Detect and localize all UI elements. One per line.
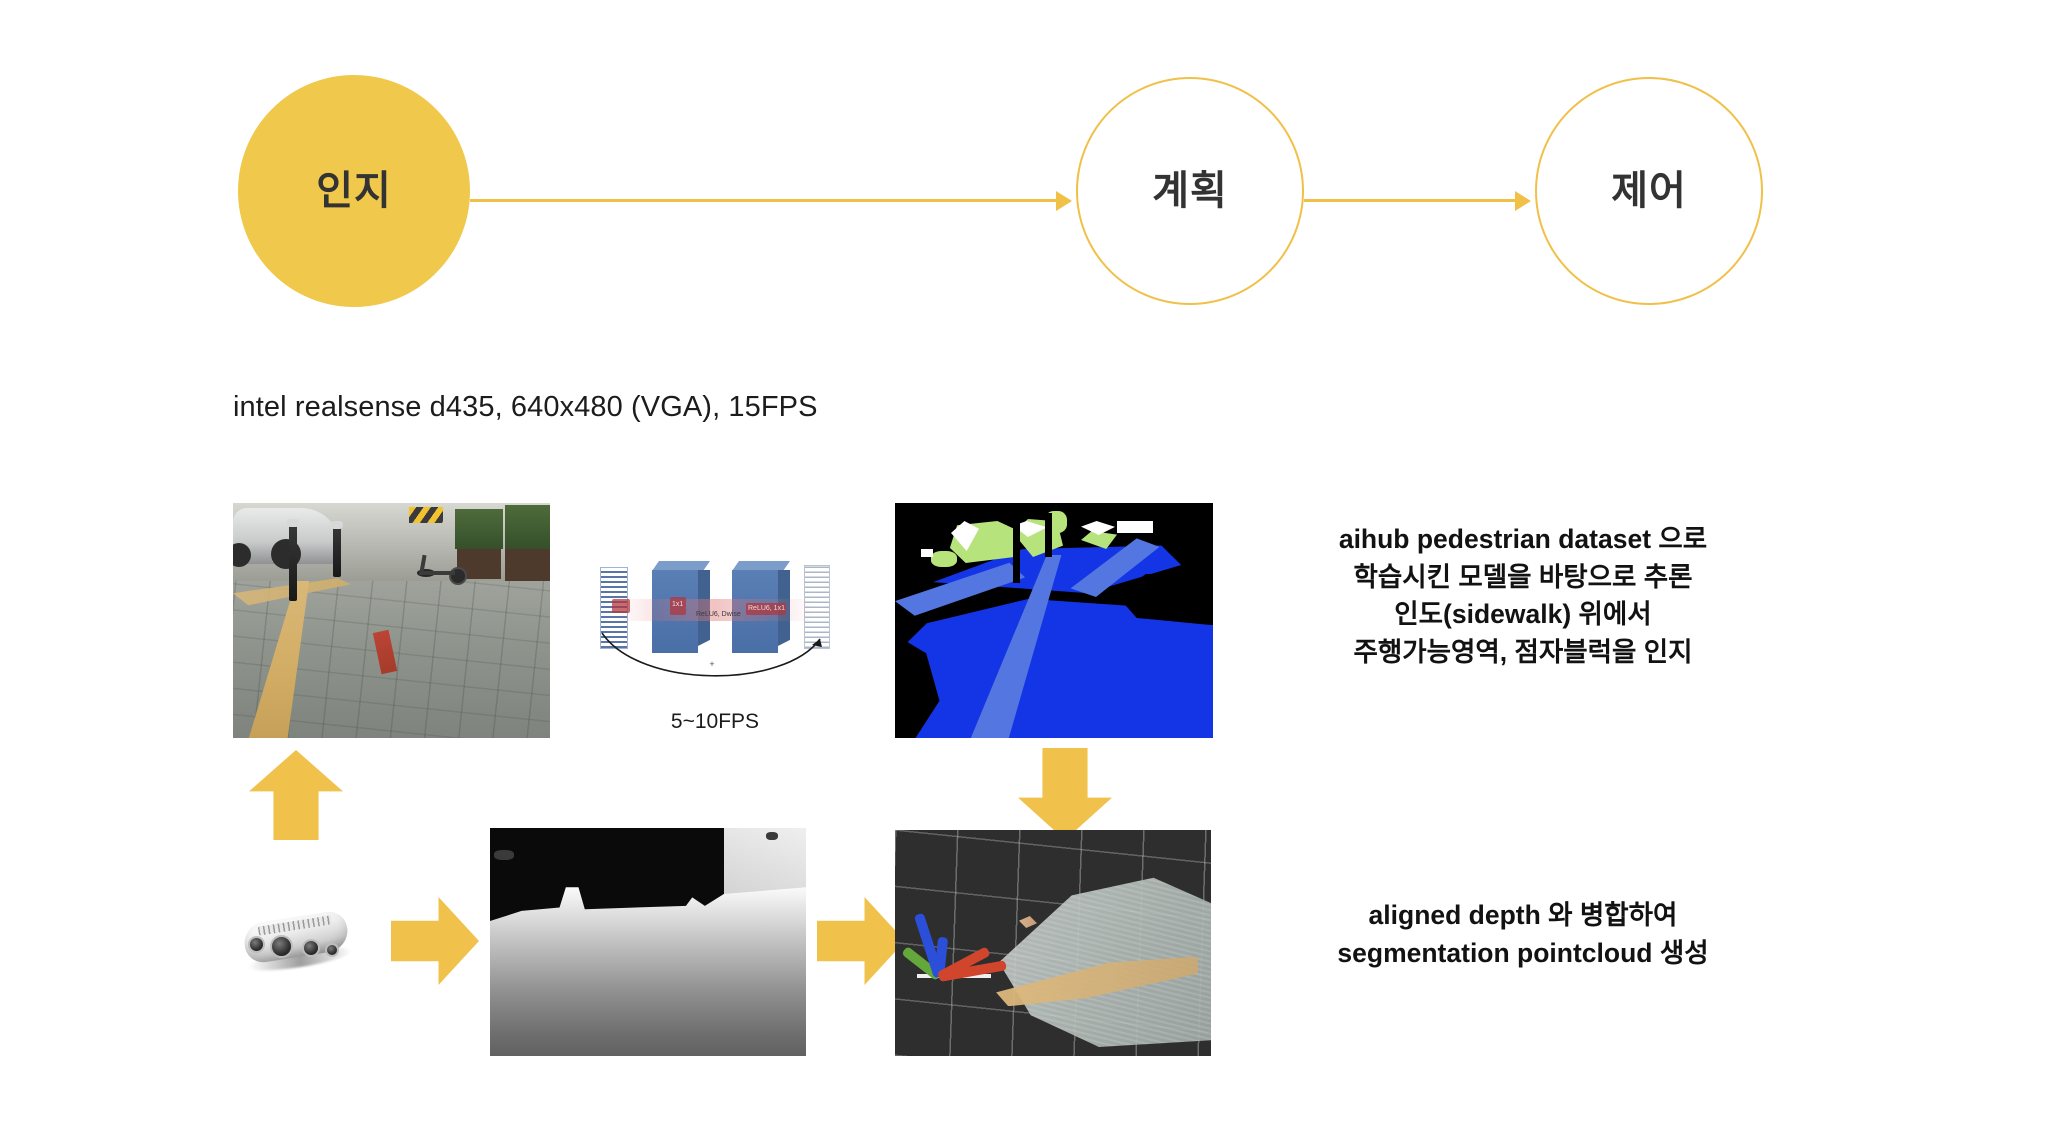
perception-annotation-line-1: aihub pedestrian dataset 으로 — [1288, 521, 1758, 559]
camera-lens — [325, 943, 339, 957]
pipeline-arrow-1-line — [470, 199, 1064, 202]
seg-pole-class — [1013, 517, 1020, 583]
seg-vegetation-class — [931, 551, 957, 567]
perception-annotation-line-4: 주행가능영역, 점자블럭을 인지 — [1288, 634, 1758, 672]
segmentation-output-image — [895, 503, 1213, 738]
seg-pole-class — [1045, 513, 1052, 557]
pointcloud-annotation-text: aligned depth 와 병합하여 segmentation pointc… — [1288, 897, 1758, 972]
rgb-sidewalk-photo — [233, 503, 550, 738]
depth-ground-gradient — [490, 887, 806, 1056]
rgb-hedge — [505, 505, 550, 549]
camera-lens — [302, 939, 320, 957]
arrow-down-segmentation-icon — [1018, 748, 1112, 840]
cnn-architecture-diagram: 1x1 ReLU6, Dwise ReLU6, 1x1 + — [600, 555, 830, 675]
pipeline-node-perception-label: 인지 — [316, 171, 392, 211]
pipeline-node-control[interactable]: 제어 — [1535, 77, 1763, 305]
cnn-layer-label-2: ReLU6, Dwise — [696, 611, 741, 618]
seg-unknown-class — [1117, 521, 1153, 533]
pointcloud-annotation-line-1: aligned depth 와 병합하여 — [1288, 897, 1758, 935]
segmentation-pointcloud-viewer — [895, 830, 1211, 1056]
pipeline-node-control-label: 제어 — [1611, 171, 1687, 211]
arrow-up-rgb-icon — [249, 750, 343, 840]
slide-canvas: 인지 계획 제어 intel realsense d435, 640x480 (… — [0, 0, 2048, 1137]
pipeline-node-planning[interactable]: 계획 — [1076, 77, 1304, 305]
perception-annotation-line-2: 학습시킨 모델을 바탕으로 추론 — [1288, 559, 1758, 597]
camera-lens — [248, 936, 265, 953]
rgb-hedge — [455, 509, 503, 549]
seg-unknown-class — [921, 549, 933, 557]
pipeline-arrow-2-line — [1304, 199, 1520, 202]
perception-annotation-line-3: 인도(sidewalk) 위에서 — [1288, 596, 1758, 634]
cnn-inference-fps-label: 5~10FPS — [600, 710, 830, 734]
perception-annotation-text: aihub pedestrian dataset 으로 학습시킨 모델을 바탕으… — [1288, 521, 1758, 672]
arrow-right-camera-to-depth-icon — [391, 897, 479, 985]
depth-noise-blob — [766, 832, 778, 840]
aligned-depth-map-image — [490, 828, 806, 1056]
pipeline-arrow-2-head-icon — [1515, 191, 1531, 211]
arrow-right-depth-to-pointcloud-icon — [817, 897, 905, 985]
cnn-kernel-marker — [612, 599, 630, 613]
rgb-hazard-stripe — [409, 507, 443, 523]
rgb-bollard — [333, 521, 341, 577]
rgb-kick-scooter — [415, 555, 467, 577]
cnn-layer-label-3: ReLU6, 1x1 — [748, 605, 785, 612]
camera-spec-caption: intel realsense d435, 640x480 (VGA), 15F… — [233, 391, 818, 424]
perception-planning-control-pipeline: 인지 계획 제어 — [0, 0, 2048, 330]
pointcloud-annotation-line-2: segmentation pointcloud 생성 — [1288, 935, 1758, 973]
rgb-bollard — [289, 519, 297, 601]
depth-noise-blob — [494, 850, 514, 860]
cnn-skip-connection-arc: + — [594, 627, 834, 683]
rgb-planter-box — [505, 547, 550, 581]
pipeline-node-planning-label: 계획 — [1152, 171, 1228, 211]
svg-text:+: + — [709, 659, 714, 669]
pipeline-arrow-1-head-icon — [1056, 191, 1072, 211]
intel-realsense-d435-device — [232, 895, 362, 985]
camera-lens — [270, 935, 293, 958]
cnn-layer-label-1: 1x1 — [672, 601, 683, 608]
pipeline-node-perception[interactable]: 인지 — [238, 75, 470, 307]
